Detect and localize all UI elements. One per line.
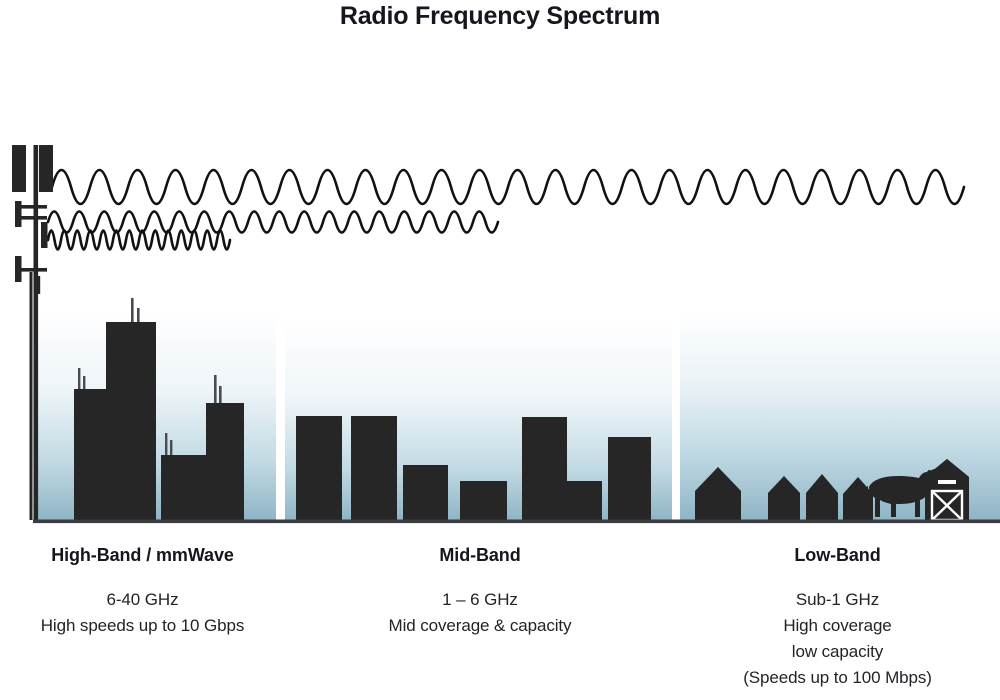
tower-crossbar-2 — [20, 216, 47, 220]
ground-line — [33, 520, 1000, 524]
skyscraper-1 — [74, 389, 106, 520]
tower-mast-secondary — [30, 272, 33, 520]
mid-building-7 — [608, 437, 651, 520]
mid-building-2 — [351, 416, 397, 520]
skyscraper-4 — [206, 403, 244, 520]
band-detail-low-band-1: High coverage — [675, 613, 1000, 639]
mid-building-1 — [296, 416, 342, 520]
mid-building-5 — [522, 417, 567, 520]
band-column-mid-band: Mid-Band 1 – 6 GHz Mid coverage & capaci… — [285, 545, 675, 700]
band-detail-mid-band-0: 1 – 6 GHz — [285, 587, 675, 613]
band-detail-high-band-0: 6-40 GHz — [0, 587, 285, 613]
band-column-high-band: High-Band / mmWave 6-40 GHz High speeds … — [0, 545, 285, 700]
skyscraper-3 — [161, 455, 206, 520]
tower-antenna-panel-4 — [41, 222, 48, 248]
medium-wavelength-wave — [48, 212, 498, 233]
band-detail-low-band-2: low capacity — [675, 639, 1000, 665]
band-column-low-band: Low-Band Sub-1 GHz High coverage low cap… — [675, 545, 1000, 700]
band-captions: High-Band / mmWave 6-40 GHz High speeds … — [0, 545, 1000, 700]
tower-crossbar-3 — [20, 268, 47, 272]
band-title-high-band: High-Band / mmWave — [0, 545, 285, 565]
tower-foot-stub — [37, 276, 40, 294]
band-detail-low-band-3: (Speeds up to 100 Mbps) — [675, 665, 1000, 691]
short-wavelength-wave — [48, 231, 230, 250]
skyscraper-2 — [106, 322, 156, 520]
band-title-mid-band: Mid-Band — [285, 545, 675, 565]
mid-building-6 — [567, 481, 602, 520]
band-detail-mid-band-1: Mid coverage & capacity — [285, 613, 675, 639]
tower-antenna-panel-2 — [39, 145, 53, 192]
barn-vent — [938, 480, 956, 484]
band-detail-low-band-0: Sub-1 GHz — [675, 587, 1000, 613]
mid-building-3 — [403, 465, 448, 520]
tower-crossbar-1 — [20, 205, 47, 209]
tower-mast — [34, 145, 39, 520]
mid-building-4 — [460, 481, 507, 520]
radio-waves — [48, 170, 964, 250]
band-title-low-band: Low-Band — [675, 545, 1000, 565]
band-detail-high-band-1: High speeds up to 10 Gbps — [0, 613, 285, 639]
tower-antenna-panel-3 — [15, 201, 22, 227]
tower-antenna-panel-1 — [12, 145, 26, 192]
infographic-stage: Radio Frequency Spectrum — [0, 0, 1000, 700]
long-wavelength-wave — [52, 170, 964, 204]
